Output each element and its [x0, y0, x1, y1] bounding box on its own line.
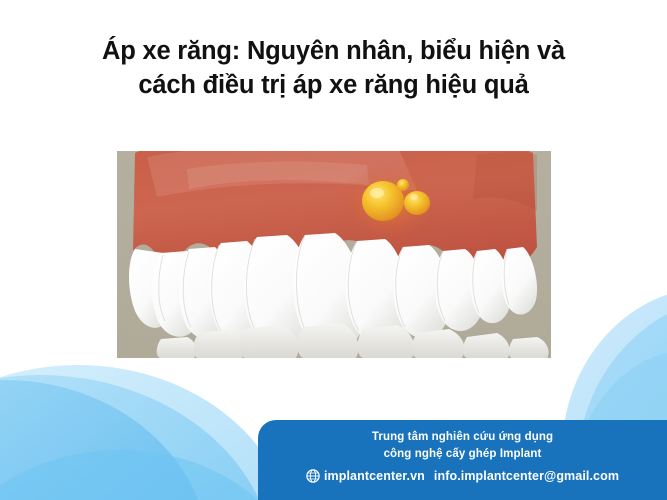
email-label: info.implantcenter@gmail.com [434, 469, 619, 483]
footer-line-2: công nghệ cấy ghép Implant [258, 446, 667, 463]
footer-contact-row: implantcenter.vn info.implantcenter@gmai… [258, 469, 667, 483]
footer-line-1: Trung tâm nghiên cứu ứng dụng [258, 429, 667, 446]
website-link[interactable]: implantcenter.vn [306, 469, 425, 483]
email-link[interactable]: info.implantcenter@gmail.com [434, 469, 619, 483]
dental-abscess-image [117, 151, 551, 358]
dental-abscess-illustration [117, 151, 551, 358]
website-label: implantcenter.vn [324, 469, 425, 483]
page-title-line-2: cách điều trị áp xe răng hiệu quả [0, 68, 667, 102]
page-title-line-1: Áp xe răng: Nguyên nhân, biểu hiện và [0, 34, 667, 68]
abscess-bump-secondary [404, 191, 430, 215]
abscess-bump-small [397, 179, 409, 191]
page-title: Áp xe răng: Nguyên nhân, biểu hiện và cá… [0, 34, 667, 102]
poster-page: Áp xe răng: Nguyên nhân, biểu hiện và cá… [0, 0, 667, 500]
globe-icon [306, 469, 320, 483]
footer-banner: Trung tâm nghiên cứu ứng dụng công nghệ … [258, 420, 667, 500]
